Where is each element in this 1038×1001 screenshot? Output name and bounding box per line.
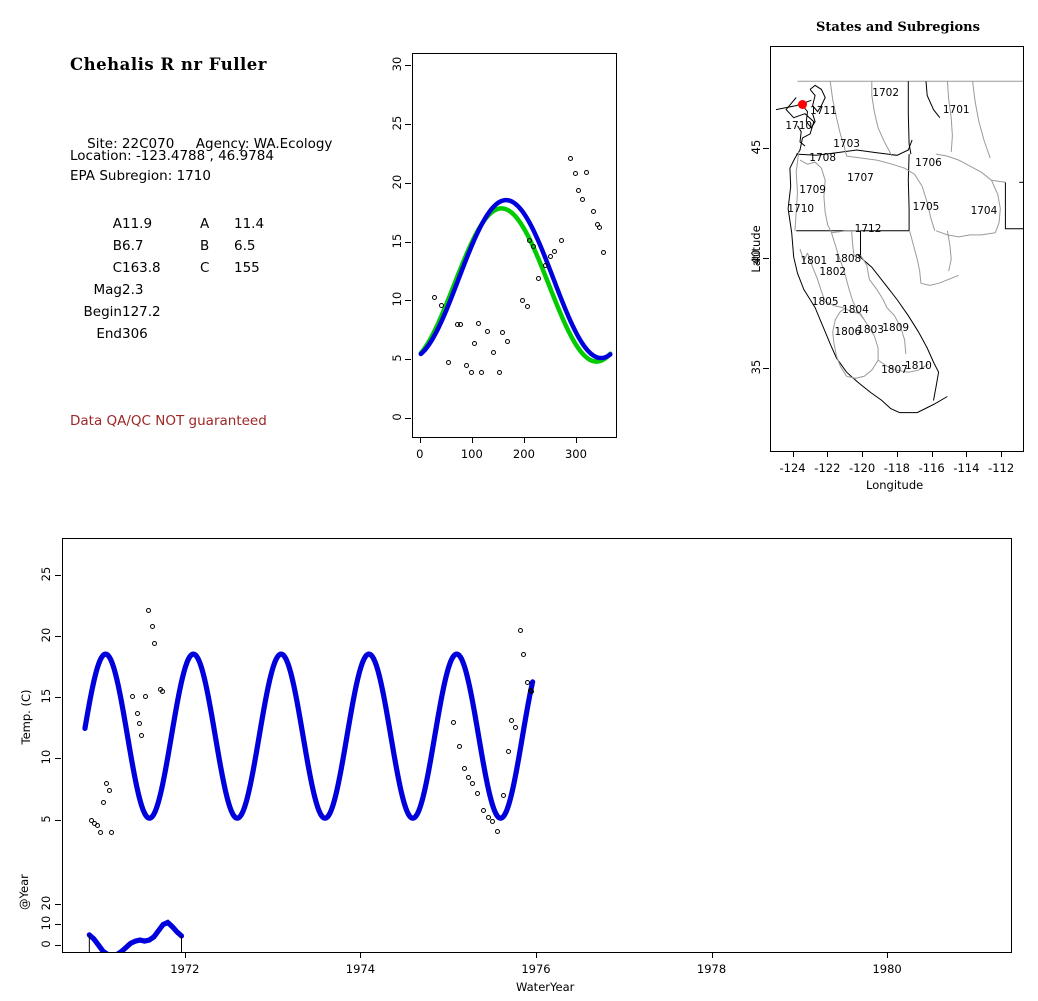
axis-tick xyxy=(55,697,61,698)
data-point xyxy=(513,725,518,730)
axis-tick xyxy=(1001,451,1002,457)
seasonal-plot-area xyxy=(412,53,617,438)
data-point xyxy=(143,694,148,699)
axis-tick xyxy=(932,451,933,457)
data-point xyxy=(160,689,165,694)
data-point xyxy=(458,322,463,327)
data-point xyxy=(466,775,471,780)
qa-warning-text: Data QA/QC NOT guaranteed xyxy=(70,413,267,429)
seasonal-ytick-label: 5 xyxy=(390,347,404,369)
axis-tick xyxy=(405,359,411,360)
data-point xyxy=(525,680,530,685)
map-subregion-label: 1804 xyxy=(842,304,869,316)
parameter-key: End xyxy=(70,325,122,347)
map-subregion-label: 1710 xyxy=(787,203,814,215)
axis-tick xyxy=(405,65,411,66)
axis-tick xyxy=(862,451,863,457)
seasonal-ytick-label: 30 xyxy=(390,53,404,75)
parameter-key-alt: C xyxy=(200,259,234,281)
axis-tick xyxy=(405,418,411,419)
timeseries-ytick-label: 5 xyxy=(39,808,53,830)
data-point xyxy=(139,733,144,738)
data-point xyxy=(439,303,444,308)
timeseries-ytick-label: 10 xyxy=(39,746,53,768)
parameter-row: A11.9A11.4 xyxy=(70,215,264,237)
data-point xyxy=(146,608,151,613)
timeseries-xtick-label: 1976 xyxy=(521,962,550,976)
data-point xyxy=(529,689,534,694)
data-point xyxy=(521,652,526,657)
parameter-row: End306 xyxy=(70,325,264,347)
axis-tick xyxy=(405,124,411,125)
parameter-key-alt: A xyxy=(200,215,234,237)
axis-tick xyxy=(405,300,411,301)
map-xtick-label: -114 xyxy=(953,461,979,475)
data-point xyxy=(98,830,103,835)
seasonal-xtick-label: 100 xyxy=(461,447,483,461)
map-subregion-label: 1709 xyxy=(799,184,826,196)
parameter-value-alt: 11.4 xyxy=(234,215,264,237)
data-point xyxy=(464,363,469,368)
parameter-value: 2.3 xyxy=(122,281,200,303)
axis-tick xyxy=(793,451,794,457)
map-subregion-label: 1706 xyxy=(915,157,942,169)
parameter-value-alt xyxy=(234,325,264,347)
wateryear-timeseries-chart: 1972197419761978198051015202501020 Water… xyxy=(0,520,1038,1001)
map-subregion-label: 1808 xyxy=(834,253,861,265)
map-xtick-label: -120 xyxy=(849,461,875,475)
data-point xyxy=(518,628,523,633)
seasonal-doy-chart: 0100200300051015202530 xyxy=(380,45,630,485)
map-subregion-label: 1807 xyxy=(881,364,908,376)
data-point xyxy=(573,171,578,176)
data-point xyxy=(527,238,532,243)
parameter-row: C163.8C155 xyxy=(70,259,264,281)
data-point xyxy=(531,244,536,249)
parameter-table-inner: A11.9A11.4B6.7B6.5C163.8C155Mag2.3Begin1… xyxy=(70,215,264,347)
location-label: Location: -123.4788 , 46.9784 xyxy=(70,148,274,164)
data-point xyxy=(500,330,505,335)
inset-yaxis-title: @Year xyxy=(17,862,31,922)
parameter-value: 163.8 xyxy=(122,259,200,281)
map-subregion-label: 1704 xyxy=(971,205,998,217)
data-point xyxy=(505,339,510,344)
states-subregions-map: States and Subregions 170117021703170417… xyxy=(748,12,1038,492)
map-subregion-label: 1702 xyxy=(872,87,899,99)
data-point xyxy=(109,830,114,835)
seasonal-ytick-label: 10 xyxy=(390,288,404,310)
parameter-value: 306 xyxy=(122,325,200,347)
data-point xyxy=(150,624,155,629)
data-point xyxy=(591,209,596,214)
seasonal-ytick-label: 0 xyxy=(390,406,404,428)
axis-tick xyxy=(763,148,769,149)
data-point xyxy=(95,823,100,828)
parameter-key-alt xyxy=(200,281,234,303)
parameter-key: A xyxy=(70,215,122,237)
axis-tick xyxy=(576,437,577,443)
axis-tick xyxy=(55,636,61,637)
parameter-table: A11.9A11.4B6.7B6.5C163.8C155Mag2.3Begin1… xyxy=(70,215,264,347)
parameter-value-alt xyxy=(234,303,264,325)
seasonal-data-points xyxy=(413,54,616,437)
axis-tick xyxy=(536,952,537,958)
map-xtick-label: -112 xyxy=(988,461,1014,475)
axis-tick xyxy=(420,437,421,443)
data-point xyxy=(457,744,462,749)
axis-tick xyxy=(524,437,525,443)
axis-tick xyxy=(55,575,61,576)
data-point xyxy=(491,350,496,355)
data-point xyxy=(130,694,135,699)
data-point xyxy=(462,766,467,771)
axis-tick xyxy=(55,904,61,905)
page-title: Chehalis R nr Fuller xyxy=(70,55,267,74)
seasonal-ytick-label: 15 xyxy=(390,230,404,252)
seasonal-ytick-label: 20 xyxy=(390,171,404,193)
epa-subregion-label: EPA Subregion: 1710 xyxy=(70,168,211,184)
axis-tick xyxy=(360,952,361,958)
axis-tick xyxy=(55,758,61,759)
data-point xyxy=(490,819,495,824)
parameter-value-alt: 155 xyxy=(234,259,264,281)
timeseries-xaxis-title: WaterYear xyxy=(516,980,574,994)
data-point xyxy=(476,321,481,326)
seasonal-xtick-label: 0 xyxy=(416,447,423,461)
data-point xyxy=(525,304,530,309)
parameter-row: B6.7B6.5 xyxy=(70,237,264,259)
data-point xyxy=(101,800,106,805)
parameter-key-alt xyxy=(200,303,234,325)
data-point xyxy=(568,156,573,161)
parameter-row: Begin127.2 xyxy=(70,303,264,325)
map-subregion-label: 1708 xyxy=(809,152,836,164)
timeseries-data-points xyxy=(63,539,1011,952)
parameter-value: 127.2 xyxy=(122,303,200,325)
axis-tick xyxy=(897,451,898,457)
timeseries-xtick-label: 1972 xyxy=(170,962,199,976)
axis-tick xyxy=(55,820,61,821)
timeseries-xtick-label: 1974 xyxy=(346,962,375,976)
timeseries-plot-area xyxy=(62,538,1012,953)
parameter-key: C xyxy=(70,259,122,281)
seasonal-xtick-label: 200 xyxy=(513,447,535,461)
data-point xyxy=(432,295,437,300)
timeseries-yaxis-title: Temp. (C) xyxy=(19,687,33,747)
data-point xyxy=(479,370,484,375)
parameter-key: B xyxy=(70,237,122,259)
data-point xyxy=(509,718,514,723)
map-xaxis-title: Longitude xyxy=(866,478,923,492)
seasonal-xtick-label: 300 xyxy=(565,447,587,461)
parameter-value: 6.7 xyxy=(122,237,200,259)
map-subregion-label: 1712 xyxy=(855,223,882,235)
map-ytick-label: 35 xyxy=(749,356,763,378)
axis-tick xyxy=(405,183,411,184)
map-subregion-label: 1707 xyxy=(847,172,874,184)
timeseries-xtick-label: 1978 xyxy=(697,962,726,976)
parameter-key: Mag xyxy=(70,281,122,303)
map-subregion-label: 1810 xyxy=(905,360,932,372)
map-subregion-label: 1805 xyxy=(812,296,839,308)
data-point xyxy=(548,254,553,259)
timeseries-ytick-label: 20 xyxy=(39,624,53,646)
map-subregion-label: 1809 xyxy=(882,322,909,334)
map-xtick-label: -118 xyxy=(884,461,910,475)
data-point xyxy=(446,360,451,365)
seasonal-ytick-label: 25 xyxy=(390,112,404,134)
timeseries-ytick-label: 15 xyxy=(39,685,53,707)
map-ytick-label: 45 xyxy=(749,136,763,158)
map-subregion-label: 1710 xyxy=(785,120,812,132)
site-info-panel: Chehalis R nr Fuller Site: 22C070 Agency… xyxy=(0,0,370,500)
axis-tick xyxy=(887,952,888,958)
data-point xyxy=(543,263,548,268)
data-point xyxy=(497,370,502,375)
data-point xyxy=(520,298,525,303)
map-subregion-label: 1705 xyxy=(913,201,940,213)
data-point xyxy=(451,720,456,725)
data-point xyxy=(472,341,477,346)
data-point xyxy=(495,829,500,834)
map-plot-area: 1701170217031704170517061707170817091710… xyxy=(770,46,1024,452)
map-subregion-label: 1703 xyxy=(833,138,860,150)
data-point xyxy=(104,781,109,786)
axis-tick xyxy=(712,952,713,958)
axis-tick xyxy=(763,258,769,259)
parameter-key-alt: B xyxy=(200,237,234,259)
axis-tick xyxy=(185,952,186,958)
map-subregion-labels: 1701170217031704170517061707170817091710… xyxy=(771,47,1023,451)
map-yaxis-title: Latitude xyxy=(749,219,763,279)
timeseries-ytick-label: 25 xyxy=(39,563,53,585)
data-point xyxy=(501,793,506,798)
data-point xyxy=(470,781,475,786)
map-subregion-label: 1806 xyxy=(834,326,861,338)
data-point xyxy=(552,249,557,254)
data-point xyxy=(475,791,480,796)
axis-tick xyxy=(55,924,61,925)
map-xtick-label: -124 xyxy=(780,461,806,475)
map-title: States and Subregions xyxy=(816,20,980,35)
axis-tick xyxy=(966,451,967,457)
data-point xyxy=(469,370,474,375)
map-subregion-label: 1701 xyxy=(943,104,970,116)
map-subregion-label: 1711 xyxy=(810,105,837,117)
inset-ytick-label: 0 xyxy=(39,933,53,955)
parameter-key-alt xyxy=(200,325,234,347)
data-point xyxy=(597,225,602,230)
data-point xyxy=(135,711,140,716)
data-point xyxy=(559,238,564,243)
map-xtick-label: -122 xyxy=(814,461,840,475)
axis-tick xyxy=(55,945,61,946)
data-point xyxy=(536,276,541,281)
axis-tick xyxy=(827,451,828,457)
parameter-row: Mag2.3 xyxy=(70,281,264,303)
data-point xyxy=(107,788,112,793)
parameter-value-alt xyxy=(234,281,264,303)
data-point xyxy=(506,749,511,754)
data-point xyxy=(580,197,585,202)
axis-tick xyxy=(472,437,473,443)
data-point xyxy=(485,329,490,334)
data-point xyxy=(481,808,486,813)
inset-ytick-label: 10 xyxy=(39,912,53,934)
data-point xyxy=(576,188,581,193)
axis-tick xyxy=(763,368,769,369)
parameter-value: 11.9 xyxy=(122,215,200,237)
data-point xyxy=(584,170,589,175)
data-point xyxy=(601,250,606,255)
axis-tick xyxy=(405,242,411,243)
parameter-key: Begin xyxy=(70,303,122,325)
timeseries-xtick-label: 1980 xyxy=(872,962,901,976)
inset-ytick-label: 20 xyxy=(39,892,53,914)
map-xtick-label: -116 xyxy=(919,461,945,475)
data-point xyxy=(152,641,157,646)
parameter-value-alt: 6.5 xyxy=(234,237,264,259)
data-point xyxy=(137,721,142,726)
map-subregion-label: 1802 xyxy=(819,266,846,278)
